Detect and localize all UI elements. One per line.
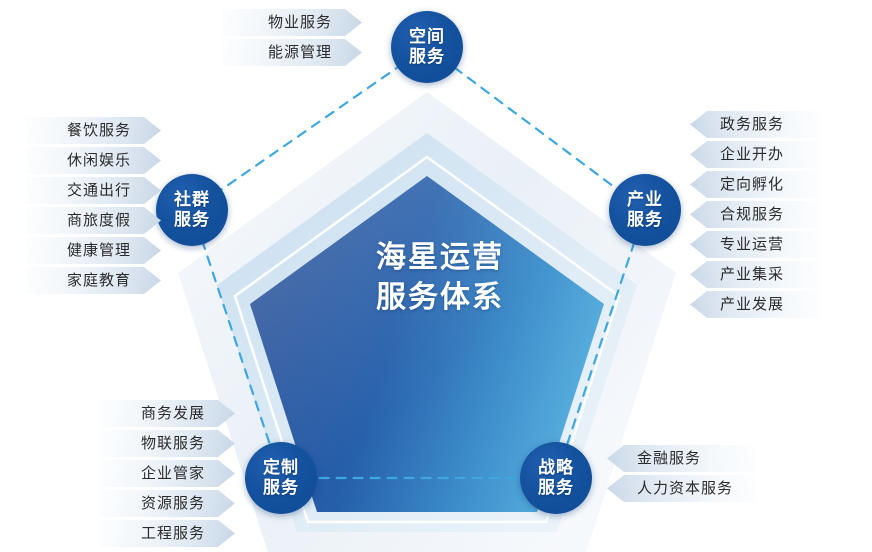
chip-label[interactable]: 政务服务	[690, 111, 820, 138]
chip-label[interactable]: 金融服务	[607, 445, 755, 472]
node-label-line1: 社群	[174, 190, 210, 210]
chip-label[interactable]: 人力资本服务	[607, 475, 755, 502]
chip-label[interactable]: 家庭教育	[26, 267, 161, 294]
chip-group-space-labels: 物业服务能源管理	[222, 9, 362, 69]
chip-label[interactable]: 产业发展	[690, 291, 820, 318]
diagram-canvas: 海星运营 服务体系 空间服务产业服务战略服务定制服务社群服务 物业服务能源管理政…	[0, 0, 872, 552]
node-label-line2: 服务	[409, 47, 445, 67]
node-community[interactable]: 社群服务	[156, 174, 228, 246]
node-strategy[interactable]: 战略服务	[520, 442, 592, 514]
chip-label[interactable]: 工程服务	[100, 520, 235, 547]
chip-label[interactable]: 休闲娱乐	[26, 147, 161, 174]
chip-label[interactable]: 物联服务	[100, 430, 235, 457]
chip-label[interactable]: 资源服务	[100, 490, 235, 517]
chip-label[interactable]: 物业服务	[222, 9, 362, 36]
chip-label[interactable]: 交通出行	[26, 177, 161, 204]
node-label-line1: 战略	[538, 458, 574, 478]
node-custom[interactable]: 定制服务	[245, 442, 317, 514]
node-label-line2: 服务	[263, 478, 299, 498]
node-industry[interactable]: 产业服务	[609, 174, 681, 246]
chip-label[interactable]: 专业运营	[690, 231, 820, 258]
node-label-line2: 服务	[538, 478, 574, 498]
node-space[interactable]: 空间服务	[391, 11, 463, 83]
node-label-line1: 空间	[409, 27, 445, 47]
node-label-line1: 产业	[627, 190, 663, 210]
chip-group-industry-labels: 政务服务企业开办定向孵化合规服务专业运营产业集采产业发展	[690, 111, 820, 321]
chip-label[interactable]: 商旅度假	[26, 207, 161, 234]
node-label-line1: 定制	[263, 458, 299, 478]
chip-label[interactable]: 能源管理	[222, 39, 362, 66]
chip-label[interactable]: 企业开办	[690, 141, 820, 168]
chip-group-community-labels: 餐饮服务休闲娱乐交通出行商旅度假健康管理家庭教育	[26, 117, 161, 297]
chip-label[interactable]: 餐饮服务	[26, 117, 161, 144]
chip-group-custom-labels: 商务发展物联服务企业管家资源服务工程服务	[100, 400, 235, 550]
node-label-line2: 服务	[627, 210, 663, 230]
chip-label[interactable]: 定向孵化	[690, 171, 820, 198]
chip-label[interactable]: 健康管理	[26, 237, 161, 264]
node-label-line2: 服务	[174, 210, 210, 230]
chip-label[interactable]: 企业管家	[100, 460, 235, 487]
chip-label[interactable]: 合规服务	[690, 201, 820, 228]
chip-group-strategy-labels: 金融服务人力资本服务	[607, 445, 755, 505]
chip-label[interactable]: 商务发展	[100, 400, 235, 427]
chip-label[interactable]: 产业集采	[690, 261, 820, 288]
